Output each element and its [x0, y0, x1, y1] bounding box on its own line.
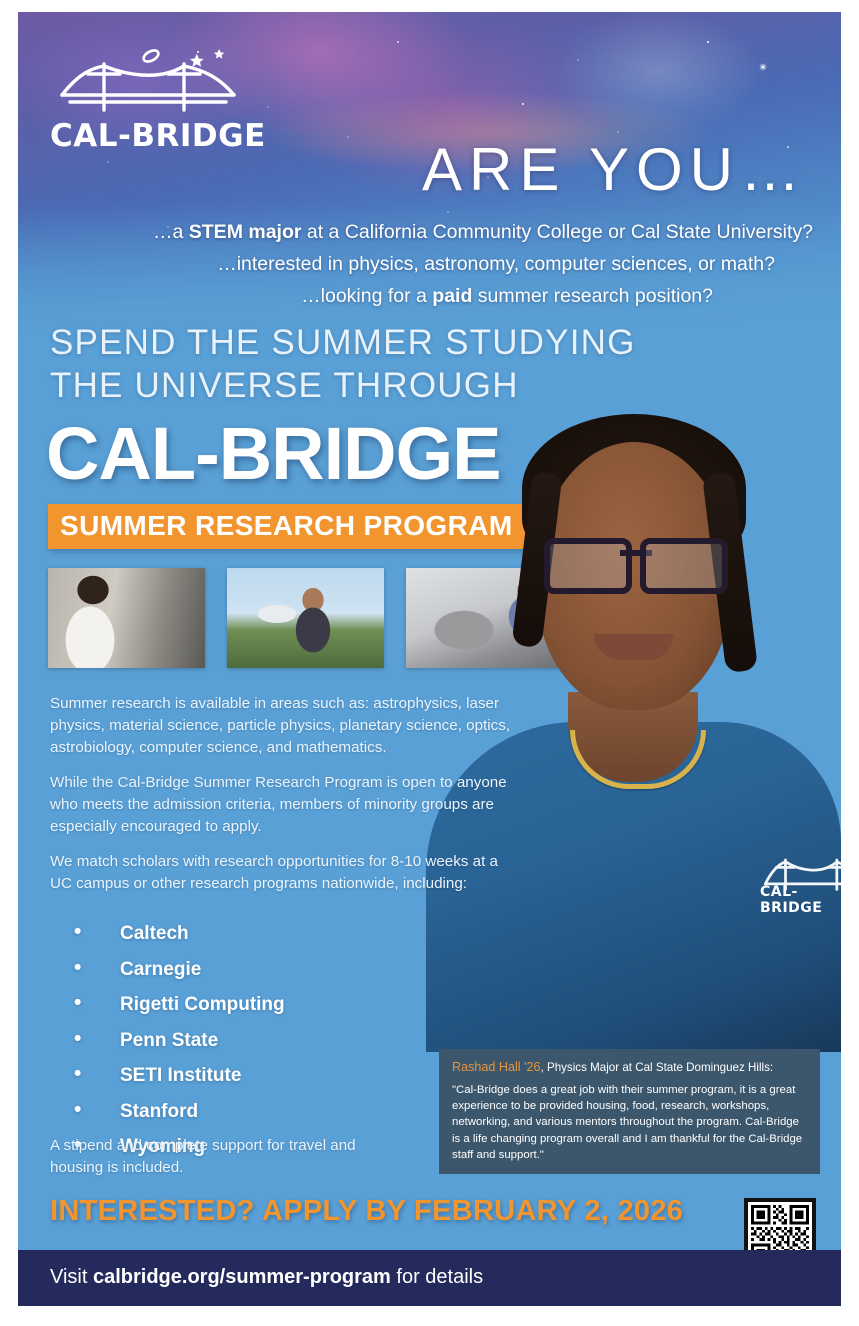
title-kicker-line1: SPEND THE SUMMER STUDYING: [50, 322, 636, 365]
question-2: …interested in physics, astronomy, compu…: [18, 252, 775, 276]
eyeglass-lens-right: [640, 538, 728, 594]
student-eyeglasses: [544, 538, 728, 582]
testimonial-attribution: Rashad Hall '26, Physics Major at Cal St…: [452, 1059, 807, 1076]
paragraph-stipend: A stipend and complete support for trave…: [50, 1135, 410, 1179]
list-item: Rigetti Computing: [62, 995, 285, 1031]
question-3-rest: summer research position?: [472, 285, 713, 307]
question-1: …a STEM major at a California Community …: [18, 220, 813, 244]
footer-url[interactable]: calbridge.org/summer-program: [93, 1266, 391, 1288]
shirt-wordmark: CAL-BRIDGE: [760, 884, 841, 916]
question-3-lead: …looking for a: [301, 285, 432, 307]
footer-prefix: Visit: [50, 1266, 93, 1288]
paragraph-placements: We match scholars with research opportun…: [50, 851, 520, 895]
photo-radio-telescope: [227, 568, 384, 668]
list-item: Penn State: [62, 1031, 285, 1067]
question-1-bold: STEM major: [189, 221, 302, 243]
cal-bridge-logo: CAL-BRIDGE: [48, 44, 288, 154]
list-item: Carnegie: [62, 960, 285, 996]
footer-text: Visit calbridge.org/summer-program for d…: [50, 1266, 483, 1289]
list-item: Caltech: [62, 924, 285, 960]
testimonial-affiliation: , Physics Major at Cal State Dominguez H…: [541, 1061, 774, 1074]
suspension-bridge-icon: [48, 44, 288, 124]
eyeglass-lens-left: [544, 538, 632, 594]
logo-wordmark: CAL-BRIDGE: [50, 118, 266, 154]
photo-student-laser-lab: [48, 568, 205, 668]
footer-bar: Visit calbridge.org/summer-program for d…: [18, 1250, 841, 1306]
question-3-bold: paid: [432, 285, 472, 307]
question-1-lead: …a: [153, 221, 189, 243]
testimonial-quote: "Cal-Bridge does a great job with their …: [452, 1082, 807, 1163]
poster-canvas: CAL-BRIDGE ARE YOU… …a STEM major at a C…: [18, 12, 841, 1306]
question-1-rest: at a California Community College or Cal…: [301, 221, 813, 243]
list-item: SETI Institute: [62, 1066, 285, 1102]
testimonial-box: Rashad Hall '26, Physics Major at Cal St…: [439, 1049, 820, 1174]
question-2-lead: …interested in physics, astronomy, compu…: [217, 253, 775, 275]
question-3: …looking for a paid summer research posi…: [18, 284, 713, 308]
footer-suffix: for details: [391, 1266, 483, 1288]
list-item: Stanford: [62, 1102, 285, 1138]
paragraph-research-areas: Summer research is available in areas su…: [50, 693, 520, 759]
headline-are-you: ARE YOU…: [422, 140, 807, 200]
cta-deadline: INTERESTED? APPLY BY FEBRUARY 2, 2026: [50, 1195, 683, 1228]
testimonial-name: Rashad Hall '26: [452, 1060, 541, 1074]
paragraph-eligibility: While the Cal-Bridge Summer Research Pro…: [50, 772, 520, 838]
